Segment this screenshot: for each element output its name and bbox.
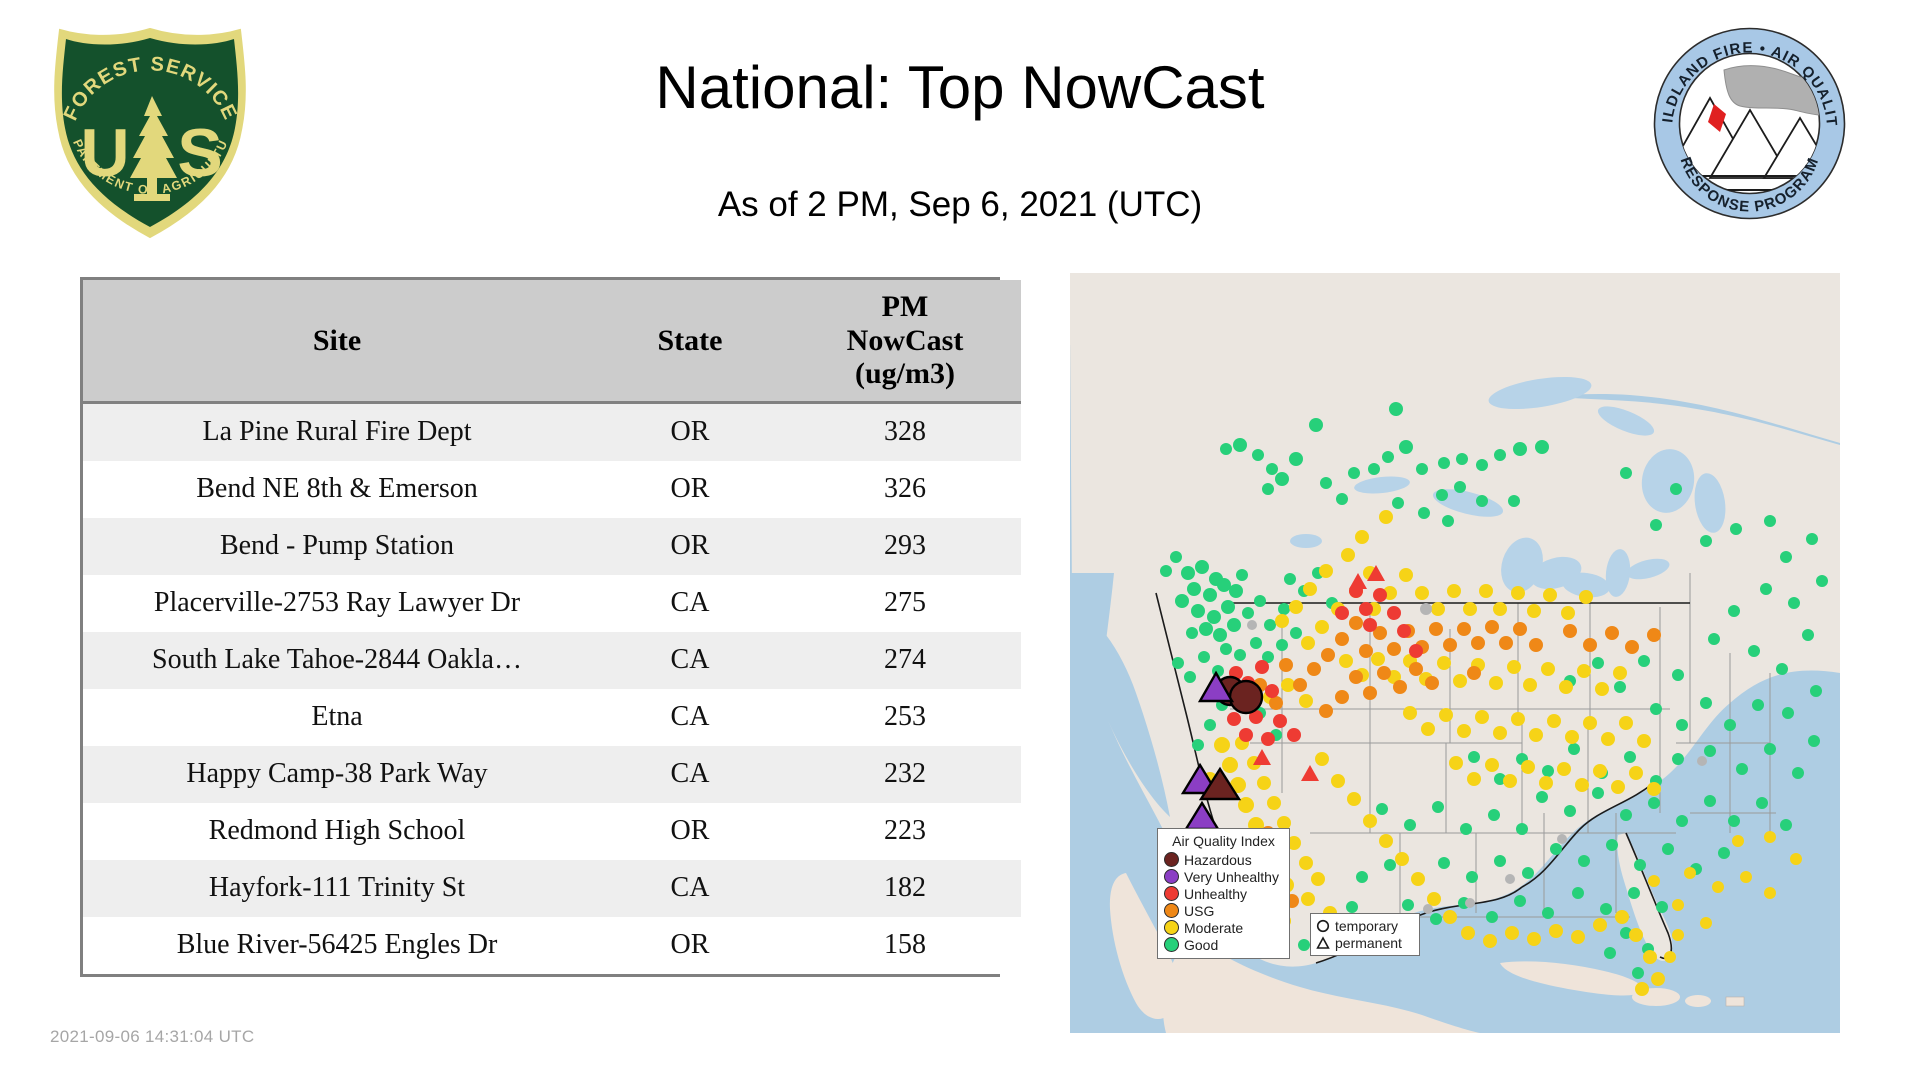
legend-label: Very Unhealthy: [1184, 870, 1279, 884]
legend-item-very-unhealthy: Very Unhealthy: [1164, 868, 1283, 885]
legend-item-permanent: permanent: [1316, 934, 1413, 951]
table-row: Bend NE 8th & Emerson OR 326: [83, 461, 1021, 518]
cell-site: South Lake Tahoe-2844 Oakla…: [83, 632, 591, 689]
column-header-line-1: PM: [793, 290, 1017, 324]
column-header-site: Site: [83, 280, 591, 402]
column-header-line-2: NowCast: [793, 324, 1017, 358]
cell-value: 328: [789, 402, 1021, 461]
circle-marker-icon: [1316, 919, 1330, 933]
usg-swatch-icon: [1164, 903, 1179, 918]
unhealthy-swatch-icon: [1164, 886, 1179, 901]
monitor-type-legend: temporary permanent: [1310, 913, 1420, 956]
legend-item-unhealthy: Unhealthy: [1164, 885, 1283, 902]
table-row: Happy Camp-38 Park Way CA 232: [83, 746, 1021, 803]
cell-state: OR: [591, 518, 789, 575]
cell-state: OR: [591, 461, 789, 518]
table-body: La Pine Rural Fire Dept OR 328 Bend NE 8…: [83, 402, 1021, 974]
cell-site: Bend NE 8th & Emerson: [83, 461, 591, 518]
legend-label: Good: [1184, 938, 1218, 952]
legend-item-good: Good: [1164, 936, 1283, 953]
svg-text:S: S: [177, 115, 222, 191]
cell-value: 293: [789, 518, 1021, 575]
column-header-line-3: (ug/m3): [793, 357, 1017, 391]
table-row: Hayfork-111 Trinity St CA 182: [83, 860, 1021, 917]
cell-site: Redmond High School: [83, 803, 591, 860]
hazardous-swatch-icon: [1164, 852, 1179, 867]
table-row: La Pine Rural Fire Dept OR 328: [83, 402, 1021, 461]
table-row: Blue River-56425 Engles Dr OR 158: [83, 917, 1021, 974]
table-row: Etna CA 253: [83, 689, 1021, 746]
page-title: National: Top NowCast: [0, 56, 1920, 119]
table-row: South Lake Tahoe-2844 Oakla… CA 274: [83, 632, 1021, 689]
legend-item-moderate: Moderate: [1164, 919, 1283, 936]
cell-value: 223: [789, 803, 1021, 860]
cell-state: CA: [591, 689, 789, 746]
very-unhealthy-swatch-icon: [1164, 869, 1179, 884]
table-row: Redmond High School OR 223: [83, 803, 1021, 860]
cell-site: La Pine Rural Fire Dept: [83, 402, 591, 461]
table-row: Bend - Pump Station OR 293: [83, 518, 1021, 575]
cell-site: Happy Camp-38 Park Way: [83, 746, 591, 803]
good-swatch-icon: [1164, 937, 1179, 952]
legend-label: Unhealthy: [1184, 887, 1247, 901]
legend-label: temporary: [1335, 919, 1398, 933]
footer-timestamp: 2021-09-06 14:31:04 UTC: [50, 1027, 254, 1047]
cell-value: 274: [789, 632, 1021, 689]
legend-item-temporary: temporary: [1316, 917, 1413, 934]
page-subtitle: As of 2 PM, Sep 6, 2021 (UTC): [0, 185, 1920, 225]
cell-value: 232: [789, 746, 1021, 803]
legend-item-usg: USG: [1164, 902, 1283, 919]
cell-state: CA: [591, 746, 789, 803]
legend-item-hazardous: Hazardous: [1164, 851, 1283, 868]
cell-state: OR: [591, 402, 789, 461]
legend-label: Hazardous: [1184, 853, 1252, 867]
cell-site: Bend - Pump Station: [83, 518, 591, 575]
cell-site: Placerville-2753 Ray Lawyer Dr: [83, 575, 591, 632]
cell-value: 253: [789, 689, 1021, 746]
cell-value: 158: [789, 917, 1021, 974]
svg-text:U: U: [80, 115, 129, 191]
table-row: Placerville-2753 Ray Lawyer Dr CA 275: [83, 575, 1021, 632]
cell-site: Etna: [83, 689, 591, 746]
slide-root: FOREST SERVICE DEPARTMENT OF AGRICULTURE…: [0, 0, 1920, 1080]
cell-state: CA: [591, 632, 789, 689]
cell-state: OR: [591, 803, 789, 860]
table-header-row: Site State PM NowCast (ug/m3): [83, 280, 1021, 402]
legend-label: Moderate: [1184, 921, 1243, 935]
cell-value: 275: [789, 575, 1021, 632]
column-header-state: State: [591, 280, 789, 402]
cell-value: 182: [789, 860, 1021, 917]
legend-label: permanent: [1335, 936, 1402, 950]
cell-site: Blue River-56425 Engles Dr: [83, 917, 591, 974]
cell-value: 326: [789, 461, 1021, 518]
cell-state: CA: [591, 575, 789, 632]
aqi-legend-title: Air Quality Index: [1164, 833, 1283, 849]
top-nowcast-table: Site State PM NowCast (ug/m3) La Pine Ru…: [80, 277, 1000, 977]
aqi-legend: Air Quality Index Hazardous Very Unhealt…: [1157, 828, 1290, 959]
column-header-pm-nowcast: PM NowCast (ug/m3): [789, 280, 1021, 402]
cell-state: CA: [591, 860, 789, 917]
legend-label: USG: [1184, 904, 1214, 918]
cell-state: OR: [591, 917, 789, 974]
cell-site: Hayfork-111 Trinity St: [83, 860, 591, 917]
triangle-marker-icon: [1316, 936, 1330, 950]
moderate-swatch-icon: [1164, 920, 1179, 935]
